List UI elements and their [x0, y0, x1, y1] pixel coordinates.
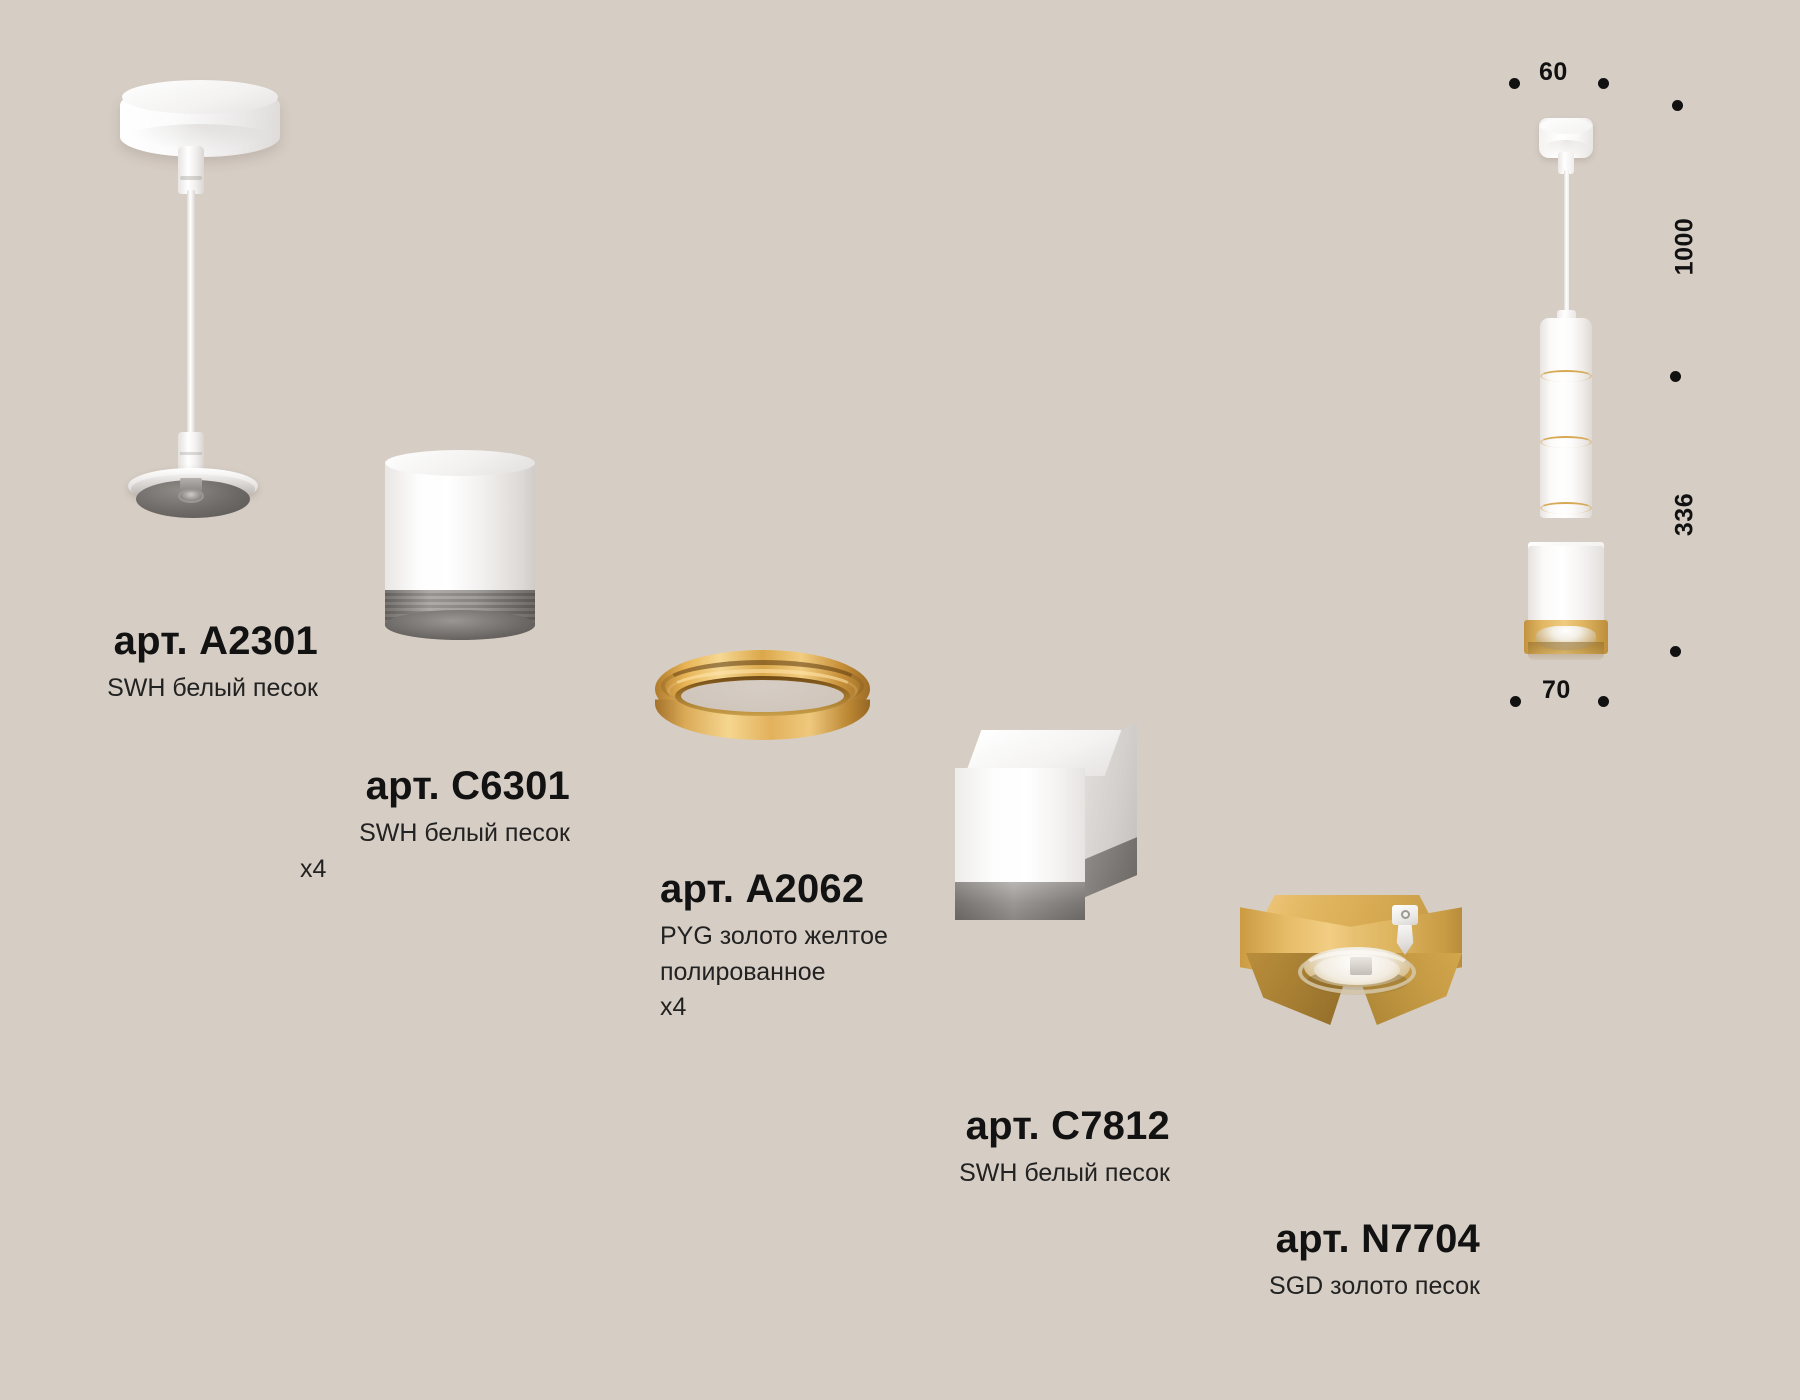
finish-a2062-line2: полированное	[660, 955, 980, 991]
assembly-gold-ring-1	[1540, 370, 1592, 382]
product-image-c7812	[955, 730, 1165, 940]
art-code-c6301: арт. C6301	[300, 765, 570, 807]
ring-aperture	[681, 680, 844, 712]
product-image-n7704	[1232, 895, 1482, 1035]
quantity-c6301: х4	[300, 852, 570, 888]
quantity-a2062: х4	[660, 990, 980, 1026]
cylinder-body	[385, 462, 535, 610]
dim-dot-bottom-right	[1598, 696, 1609, 707]
square-bottom-shading	[955, 882, 1085, 920]
dim-dot-right-lower	[1670, 646, 1681, 657]
assembly-gold-ring-2	[1540, 436, 1592, 448]
product-diagram-canvas: арт. A2301 SWH белый песок арт. C6301 SW…	[0, 0, 1800, 1400]
dimension-bottom-width: 70	[1542, 676, 1571, 705]
dim-dot-right-upper	[1672, 100, 1683, 111]
dim-dot-top-left	[1509, 78, 1520, 89]
art-code-c7812: арт. C7812	[890, 1105, 1170, 1147]
product-image-c6301	[385, 450, 555, 650]
assembly-gold-ring-3	[1540, 502, 1592, 514]
product-image-a2301	[120, 80, 420, 530]
cylinder-bottom-face	[385, 610, 535, 640]
dimension-top-width: 60	[1539, 58, 1568, 87]
finish-n7704: SGD золото песок	[1190, 1269, 1480, 1305]
dim-dot-top-right	[1598, 78, 1609, 89]
label-a2301: арт. A2301 SWH белый песок	[38, 620, 318, 707]
suspension-rod	[187, 190, 195, 440]
socket-rib-line	[180, 452, 202, 455]
product-image-a2062	[655, 650, 885, 760]
canopy-top-face	[122, 80, 278, 114]
assembly-suspension-rod	[1564, 170, 1569, 320]
canopy-neck	[178, 146, 204, 194]
art-code-n7704: арт. N7704	[1190, 1218, 1480, 1260]
label-a2062: арт. A2062 PYG золото желтое полированно…	[660, 868, 980, 1026]
label-c6301: арт. C6301 SWH белый песок х4	[300, 765, 570, 887]
assembled-pendant-luminaire	[1520, 118, 1650, 658]
art-code-a2301: арт. A2301	[38, 620, 318, 662]
label-n7704: арт. N7704 SGD золото песок	[1190, 1218, 1480, 1305]
assembly-canopy-top	[1540, 118, 1592, 134]
bezel-center-hub	[1350, 957, 1372, 975]
dimension-suspension-length: 1000	[1671, 212, 1700, 282]
finish-a2062-line1: PYG золото желтое	[660, 919, 980, 955]
cylinder-top-face	[385, 450, 535, 476]
assembly-cylinder-body	[1540, 318, 1592, 518]
label-c7812: арт. C7812 SWH белый песок	[890, 1105, 1170, 1192]
dim-dot-bottom-left	[1510, 696, 1521, 707]
dimension-fixture-height: 336	[1671, 487, 1700, 543]
art-code-a2062: арт. A2062	[660, 868, 980, 910]
neck-rib-line	[180, 176, 202, 180]
mounting-plate-hub	[178, 489, 204, 503]
dim-dot-right-middle	[1670, 371, 1681, 382]
finish-c7812: SWH белый песок	[890, 1156, 1170, 1192]
spring-clip-screw-icon	[1401, 910, 1410, 919]
finish-c6301: SWH белый песок	[300, 816, 570, 852]
finish-a2301: SWH белый песок	[38, 671, 318, 707]
assembly-bezel-shadow	[1528, 642, 1604, 660]
